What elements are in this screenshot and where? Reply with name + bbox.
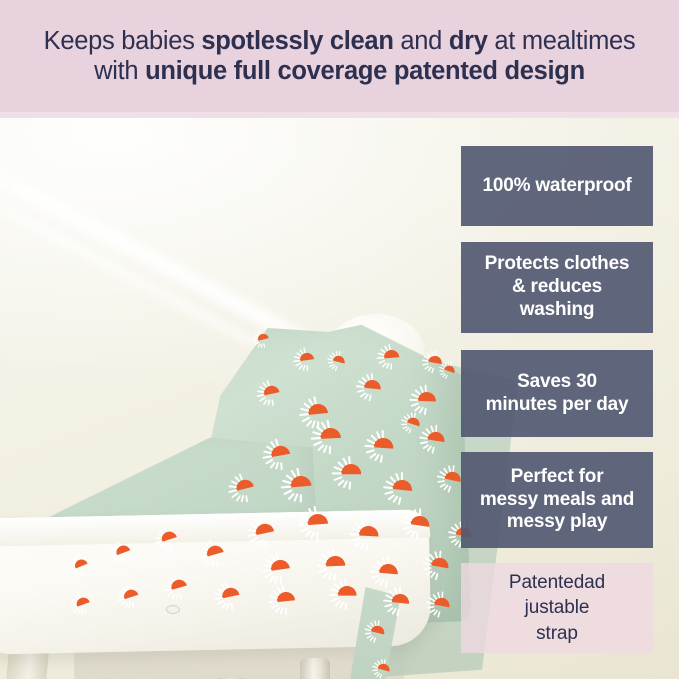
sunburst-ray [253,339,259,342]
feature-badge-label: Protects clothes& reduceswashing [485,253,630,321]
header-banner: Keeps babies spotlessly clean and dry at… [0,0,679,112]
sunburst-ray [435,351,437,356]
feature-badge-waterproof[interactable]: 100% waterproof [461,146,653,226]
headline-text-3: at mealtimes [488,27,636,55]
headline-text-4: with [94,57,145,85]
sunburst-ray [254,334,259,337]
sunburst-ray [427,352,432,358]
sunburst-ray [257,331,261,335]
sunburst-ray [431,351,434,357]
feature-badge-label: Perfect formessy meals andmessy play [480,466,634,534]
headline-strong-3: unique full coverage patented design [145,57,585,85]
bib-snap-button [166,605,180,614]
sunburst-ray [259,330,262,334]
feature-badge-messy-meals[interactable]: Perfect formessy meals andmessy play [461,452,653,548]
highchair-support-post [300,658,330,679]
page-title: Keeps babies spotlessly clean and dry at… [30,26,650,86]
sunburst-ray [253,337,258,339]
feature-badge-patented-strap[interactable]: Patentedadjustablestrap [461,563,653,653]
feature-badge-label: Saves 30minutes per day [486,371,629,417]
feature-badge-saves-time[interactable]: Saves 30minutes per day [461,350,653,437]
headline-strong-1: spotlessly clean [201,27,393,55]
feature-badge-label: Patentedadjustablestrap [509,570,605,645]
feature-badge-protects-clothes[interactable]: Protects clothes& reduceswashing [461,242,653,333]
headline-text-2: and [394,27,449,55]
product-feature-image: Keeps babies spotlessly clean and dry at… [0,0,679,679]
feature-badge-label: 100% waterproof [482,175,631,198]
headline-strong-2: dry [449,27,488,55]
headline-text-1: Keeps babies [44,27,202,55]
